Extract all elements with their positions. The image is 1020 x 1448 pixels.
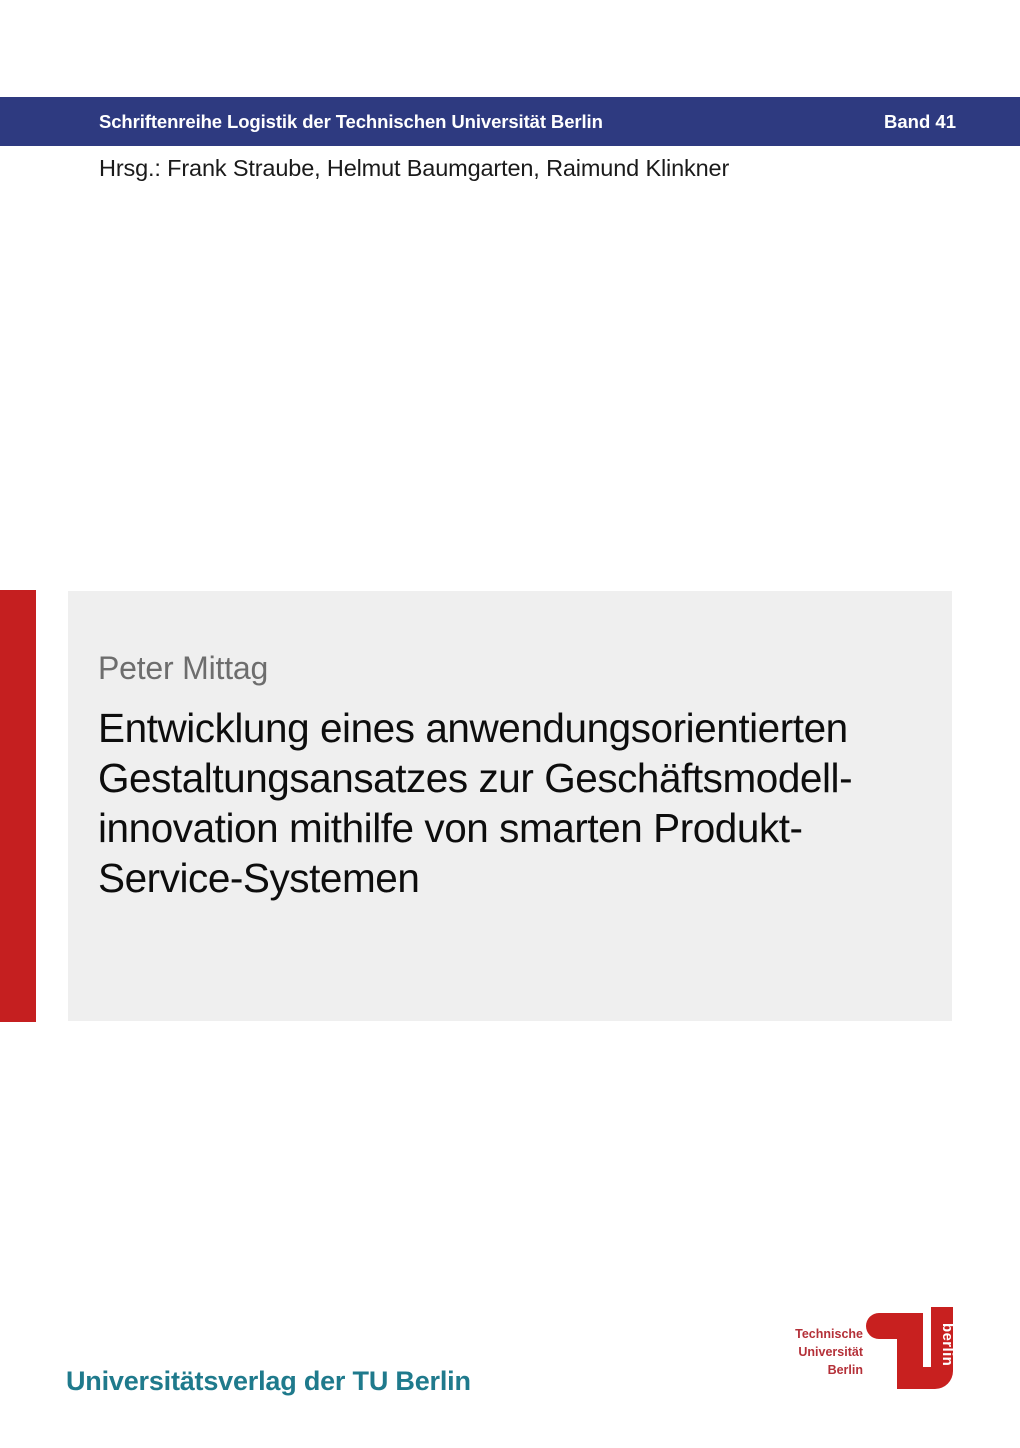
series-volume-number: Band 41 [884, 111, 956, 133]
red-accent-bar [0, 590, 36, 1022]
book-title-line: Gestaltungsansatzes zur Geschäftsmodell- [98, 754, 912, 804]
series-banner: Schriftenreihe Logistik der Technischen … [0, 97, 1020, 146]
editors-line: Hrsg.: Frank Straube, Helmut Baumgarten,… [99, 155, 729, 182]
tu-berlin-logo: Technische Universität Berlin berlin [795, 1293, 975, 1408]
tu-monogram-icon: berlin [857, 1293, 969, 1405]
logo-wordmark-line: Berlin [795, 1362, 863, 1380]
book-title: Entwicklung eines anwendungsorientierten… [98, 704, 912, 903]
book-title-line: innovation mithilfe von smarten Produkt- [98, 804, 912, 854]
book-cover: Schriftenreihe Logistik der Technischen … [0, 0, 1020, 1448]
book-title-line: Entwicklung eines anwendungsorientierten [98, 704, 912, 754]
logo-berlin-text: berlin [939, 1323, 956, 1366]
logo-wordmark-line: Technische [795, 1326, 863, 1344]
series-title: Schriftenreihe Logistik der Technischen … [99, 111, 603, 133]
logo-wordmark-line: Universität [795, 1344, 863, 1362]
book-title-line: Service-Systemen [98, 854, 912, 904]
author-name: Peter Mittag [98, 651, 912, 686]
tu-berlin-logo-wordmark: Technische Universität Berlin [795, 1326, 863, 1379]
title-panel: Peter Mittag Entwicklung eines anwendung… [68, 591, 952, 1021]
publisher-imprint: Universitätsverlag der TU Berlin [66, 1366, 471, 1397]
